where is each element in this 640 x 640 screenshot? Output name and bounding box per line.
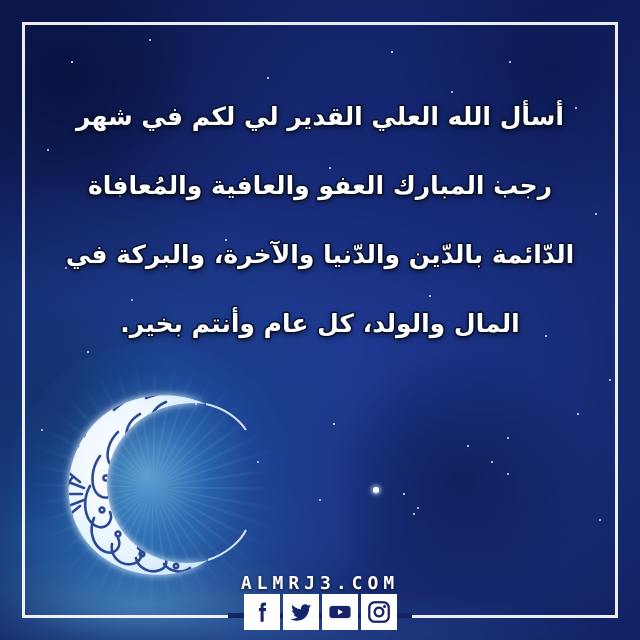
twitter-link[interactable] [283,594,319,630]
star [609,379,611,381]
message-line-2: رجب المبارك العفو والعافية والمُعافاة [44,173,596,198]
star [71,61,73,63]
star [391,51,394,54]
message-line-1: أسأل الله العلي القدير لي لكم في شهر [44,104,596,129]
star [257,461,259,463]
site-name: ALMRJ3.COM [241,573,399,594]
facebook-link[interactable] [244,594,280,630]
message-line-3: الدّائمة بالدّين والدّنيا والآخرة، والبر… [44,242,596,267]
star [507,437,509,439]
instagram-icon [366,599,392,625]
star [599,519,601,521]
star [413,513,415,515]
facebook-icon [249,599,275,625]
star [467,445,470,448]
nebula-blotch [330,350,590,610]
moon-light-rays [18,352,288,622]
star [577,413,579,415]
twitter-icon [288,599,314,625]
crescent-moon [48,382,258,587]
star [195,403,197,405]
crescent-moon-icon [48,382,258,587]
greeting-message: أسأل الله العلي القدير لي لكم في شهر رجب… [44,104,596,336]
star [509,61,511,63]
star [491,461,493,463]
star [507,473,509,475]
star [319,499,321,501]
instagram-link[interactable] [361,594,397,630]
star [149,39,151,41]
star [373,487,378,492]
moon-glow [8,342,298,632]
star [87,351,89,353]
message-line-4: المال والولد، كل عام وأنتم بخير. [44,311,596,336]
star [41,429,43,431]
greeting-card: أسأل الله العلي القدير لي لكم في شهر رجب… [0,0,640,640]
star [417,507,419,509]
youtube-icon [327,599,353,625]
youtube-link[interactable] [322,594,358,630]
social-links [0,594,640,630]
watermark: ALMRJ3.COM [0,573,640,594]
star [451,91,453,93]
star [333,423,335,425]
star [267,77,269,79]
star [403,493,406,496]
nebula-blotch [180,420,380,620]
